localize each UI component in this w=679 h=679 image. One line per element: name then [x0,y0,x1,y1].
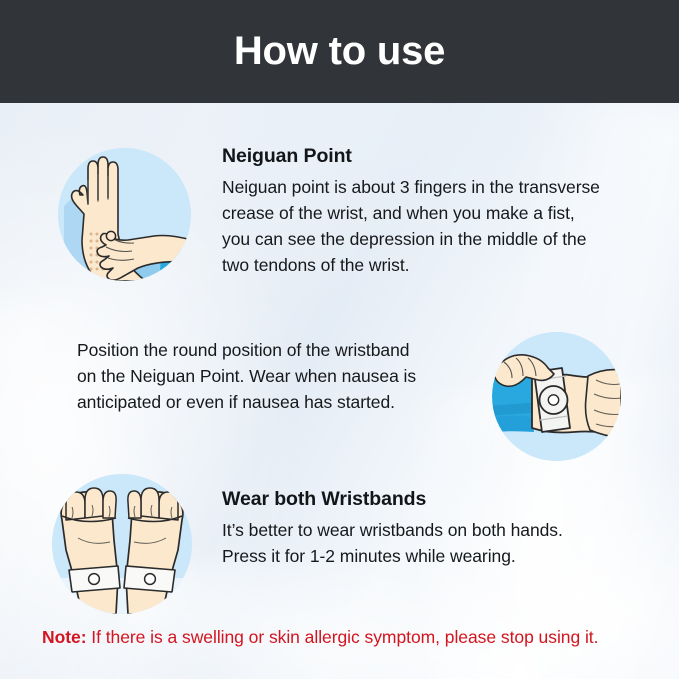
body-line: Neiguan point is about 3 fingers in the … [222,175,652,201]
body-line: anticipated or even if nausea has starte… [77,390,477,416]
body-line: on the Neiguan Point. Wear when nausea i… [77,364,477,390]
section-heading-neiguan-point: Neiguan Point [222,145,652,168]
note-warning: Note: If there is a swelling or skin all… [42,627,598,648]
body-line: Press it for 1-2 minutes while wearing. [222,544,642,570]
wristband-on-wrist-svg [492,332,621,461]
section-heading-wear-both-wristbands: Wear both Wristbands [222,488,642,511]
note-text: If there is a swelling or skin allergic … [86,627,598,647]
body-line: crease of the wrist, and when you make a… [222,201,652,227]
body-line: Position the round position of the wrist… [77,338,477,364]
page-root: How to use [0,0,679,679]
body-line: two tendons of the wrist. [222,253,652,279]
both-wrists-wristbands-illustration [52,474,192,614]
section-body-wear-both-wristbands: It’s better to wear wristbands on both h… [222,518,642,570]
hand-measuring-three-fingers-svg [58,148,191,281]
both-wrists-wristbands-svg [52,474,192,614]
hand-measuring-three-fingers-illustration [58,148,191,281]
section-neiguan-point: Neiguan Point Neiguan point is about 3 f… [222,145,652,279]
wristband-on-wrist-illustration [492,332,621,461]
note-label: Note: [42,627,86,647]
section-body-position-wristband: Position the round position of the wrist… [77,338,477,416]
section-wear-both-wristbands: Wear both Wristbands It’s better to wear… [222,488,642,570]
page-header: How to use [0,0,679,103]
body-line: It’s better to wear wristbands on both h… [222,518,642,544]
page-title: How to use [234,31,445,73]
body-line: you can see the depression in the middle… [222,227,652,253]
section-body-neiguan-point: Neiguan point is about 3 fingers in the … [222,175,652,279]
section-position-wristband: Position the round position of the wrist… [77,338,477,416]
